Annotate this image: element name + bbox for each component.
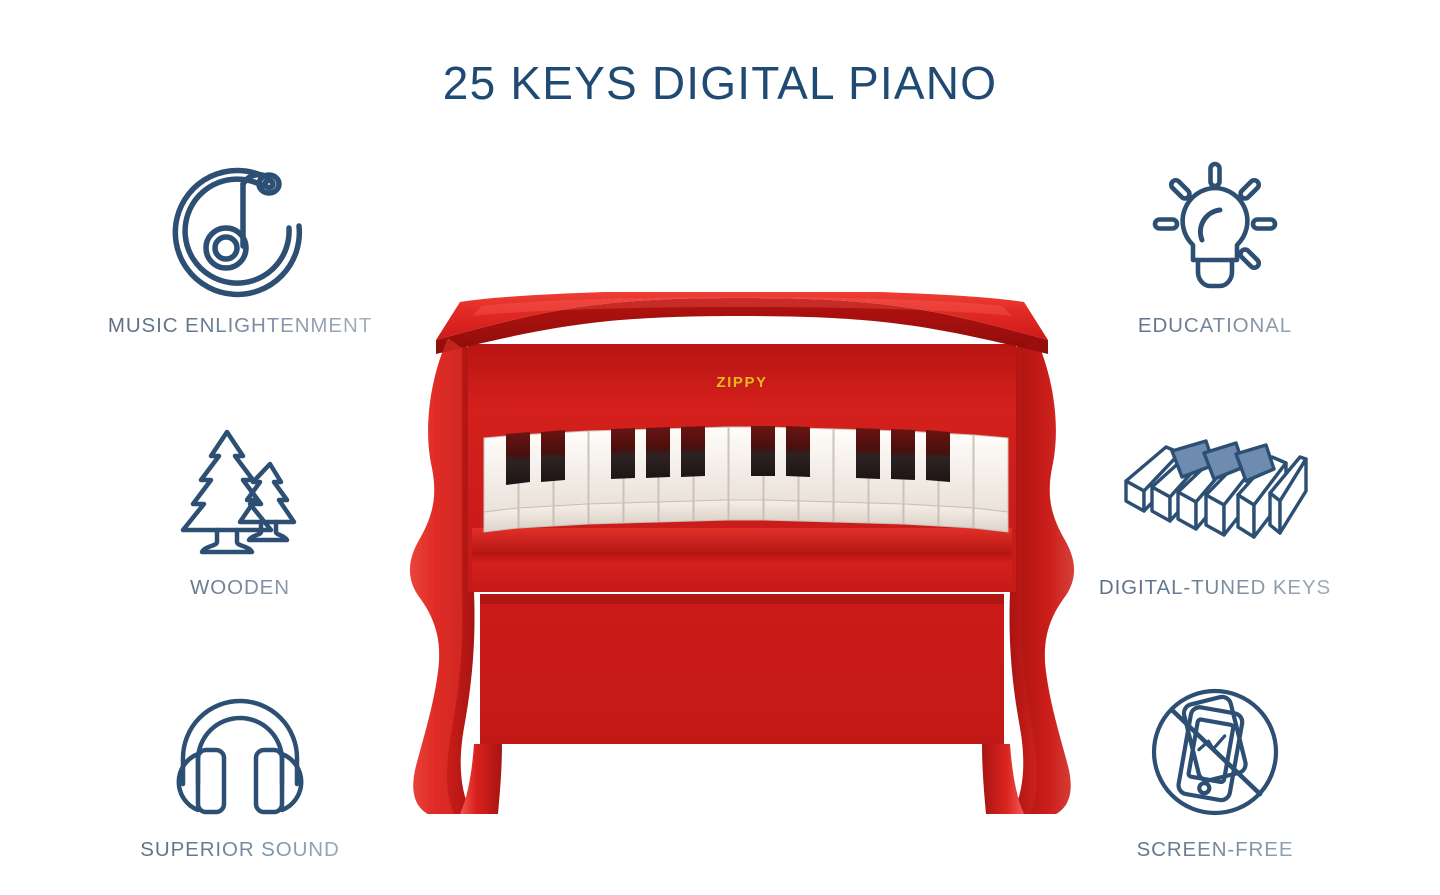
- pine-trees-icon: [90, 420, 390, 570]
- piano-keyboard: [484, 426, 1008, 532]
- feature-label: MUSIC ENLIGHTENMENT: [90, 314, 390, 338]
- no-screen-icon: [1065, 682, 1365, 832]
- feature-label: WOODEN: [90, 576, 390, 600]
- feature-music-enlightenment: MUSIC ENLIGHTENMENT: [90, 158, 390, 338]
- feature-screen-free: SCREEN-FREE: [1065, 682, 1365, 862]
- feature-label: SUPERIOR SOUND: [90, 838, 390, 862]
- feature-digital-tuned-keys: DIGITAL-TUNED KEYS: [1065, 420, 1365, 600]
- keybed-shelf: [472, 528, 1012, 554]
- lightbulb-icon: [1065, 158, 1365, 308]
- feature-label: DIGITAL-TUNED KEYS: [1065, 576, 1365, 600]
- feature-wooden: WOODEN: [90, 420, 390, 600]
- feature-superior-sound: SUPERIOR SOUND: [90, 682, 390, 862]
- piano-lower-panel: [480, 594, 1004, 744]
- infographic-page: 25 KEYS DIGITAL PIANO: [0, 0, 1440, 895]
- feature-label: SCREEN-FREE: [1065, 838, 1365, 862]
- piano-legs: [460, 744, 1024, 814]
- feature-educational: EDUCATIONAL: [1065, 158, 1365, 338]
- music-note-circle-icon: [90, 158, 390, 308]
- page-title: 25 KEYS DIGITAL PIANO: [0, 56, 1440, 110]
- below-key-rail: [472, 554, 1012, 592]
- feature-label: EDUCATIONAL: [1065, 314, 1365, 338]
- headphones-icon: [90, 682, 390, 832]
- piano-keys-icon: [1065, 420, 1365, 570]
- product-image-piano: ZIPPY: [402, 292, 1082, 820]
